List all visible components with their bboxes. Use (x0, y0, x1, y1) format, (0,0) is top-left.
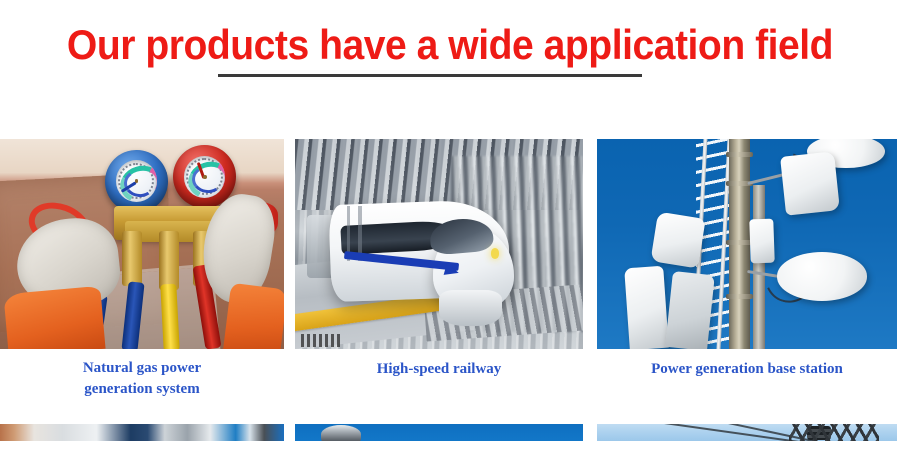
glove-cuff-left (3, 286, 105, 349)
gallery-card-row2-2[interactable] (295, 424, 583, 441)
gauge-hub (203, 175, 207, 179)
brass-port-left (122, 231, 142, 286)
panel-antenna-lower-left (624, 266, 669, 349)
gallery-row-2 (0, 424, 900, 441)
caption-line-1: Power generation base station (597, 359, 897, 380)
gallery-card-base-station[interactable]: Power generation base station (597, 139, 897, 380)
page-title: Our products have a wide application fie… (32, 22, 869, 68)
caption-base-station: Power generation base station (597, 349, 897, 380)
panel-antenna-left (650, 211, 705, 268)
hose-yellow (160, 284, 179, 349)
tower-secondary-pole (753, 185, 765, 349)
title-underline-rule (218, 74, 642, 77)
caption-natural-gas: Natural gas power generation system (0, 349, 284, 400)
pressure-gauge-blue-icon (105, 150, 167, 213)
image-high-speed-train[interactable] (295, 139, 583, 349)
lattice-pylon (789, 424, 879, 441)
train-headlight (491, 248, 500, 259)
image-watermark (301, 334, 341, 347)
image-row2-equipment-room[interactable] (0, 424, 284, 441)
page-root: Our products have a wide application fie… (0, 0, 900, 450)
panel-antenna-upper-right (780, 151, 840, 215)
cylindrical-equipment (321, 425, 361, 441)
gallery-card-row2-1[interactable] (0, 424, 284, 441)
gauge-face (184, 156, 225, 198)
caption-line-2: generation system (0, 379, 284, 400)
image-telecom-tower[interactable] (597, 139, 897, 349)
caption-line-1: Natural gas power (0, 358, 284, 379)
gallery-card-high-speed-railway[interactable]: High-speed railway (295, 139, 583, 380)
caption-line-1: High-speed railway (295, 359, 583, 380)
image-row2-power-lines[interactable] (597, 424, 897, 441)
mast-band-3 (726, 240, 753, 245)
radio-unit-box (749, 218, 775, 263)
parabolic-dish-antenna-lower (777, 252, 867, 300)
page-title-wrapper: Our products have a wide application fie… (0, 22, 900, 68)
image-manifold-gauges[interactable] (0, 139, 284, 349)
mast-band-4 (726, 294, 753, 299)
panel-antenna-lower-center (665, 271, 715, 349)
brass-port-center (159, 231, 179, 290)
glove-cuff-right (223, 283, 284, 349)
gallery-card-natural-gas[interactable]: Natural gas power generation system (0, 139, 284, 400)
gauge-face (116, 160, 157, 202)
gallery-row-1: Natural gas power generation system (0, 139, 900, 400)
caption-high-speed-railway: High-speed railway (295, 349, 583, 380)
image-row2-sky-equipment[interactable] (295, 424, 583, 441)
gallery-card-row2-3[interactable] (597, 424, 897, 441)
application-field-gallery: Natural gas power generation system (0, 139, 900, 441)
mast-band-1 (726, 152, 753, 157)
train-front-skirt (439, 290, 502, 326)
